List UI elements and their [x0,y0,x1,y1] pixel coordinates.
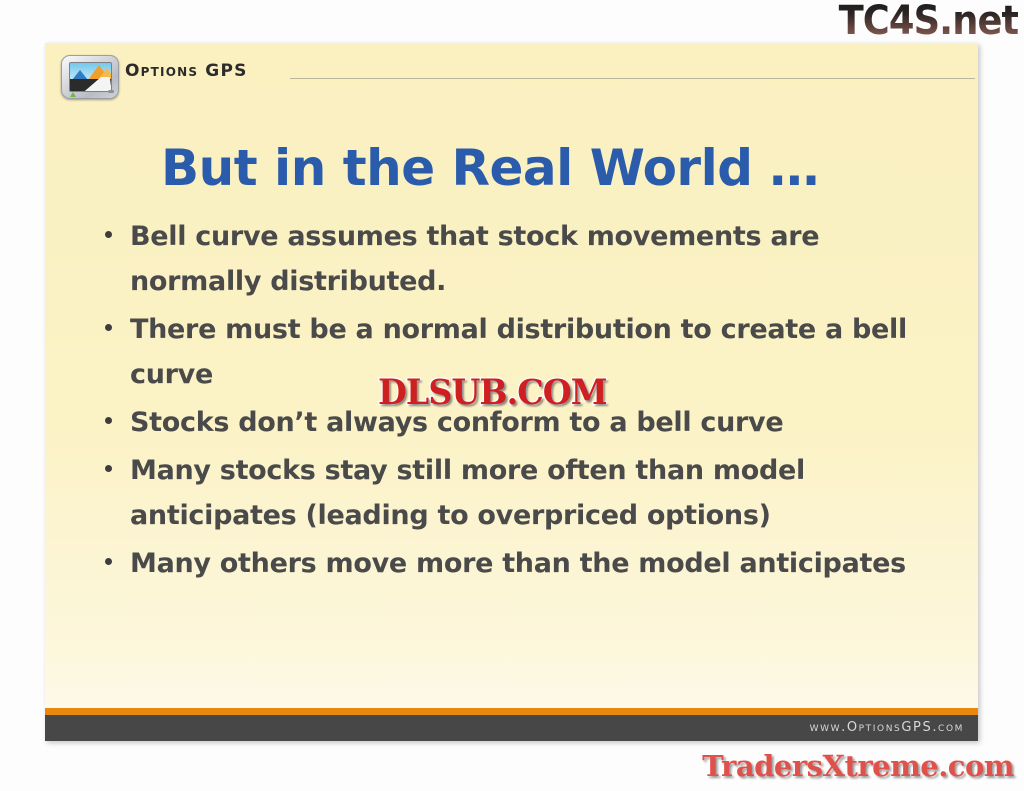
brand-wordmark: Options GPS [125,61,248,81]
bullet-point-icon [97,400,130,424]
list-item-text: Many others move more than the model ant… [130,541,920,586]
gps-device-button [108,90,114,93]
bullet-point-icon [97,541,130,565]
gps-device-icon [61,55,117,99]
slide-footer: www.OptionsGPS.com [45,715,978,741]
tc4s-watermark: TC4S.net [838,0,1018,44]
tradersxtreme-watermark: TradersXtreme.com [702,749,1014,783]
bullet-point-icon [97,448,130,472]
list-item-text: Many stocks stay still more often than m… [130,448,920,538]
list-item: Many stocks stay still more often than m… [97,448,957,538]
gps-device-screen [69,62,112,92]
slide-title: But in the Real World … [45,139,935,197]
dlsub-watermark: DLSUB.COM [378,372,607,413]
slide-header: Options GPS [45,43,978,95]
bullet-point-icon [97,214,130,238]
header-divider [290,78,975,79]
list-item: Bell curve assumes that stock movements … [97,214,957,304]
list-item: Many others move more than the model ant… [97,541,957,586]
footer-url: www.OptionsGPS.com [810,720,964,735]
slide-page: TC4S.net Options GPS [0,0,1024,791]
list-item-text: Bell curve assumes that stock movements … [130,214,920,304]
gps-device-body [61,55,119,99]
accent-stripe [45,708,978,715]
bullet-point-icon [97,307,130,331]
gps-device-led [70,92,76,97]
